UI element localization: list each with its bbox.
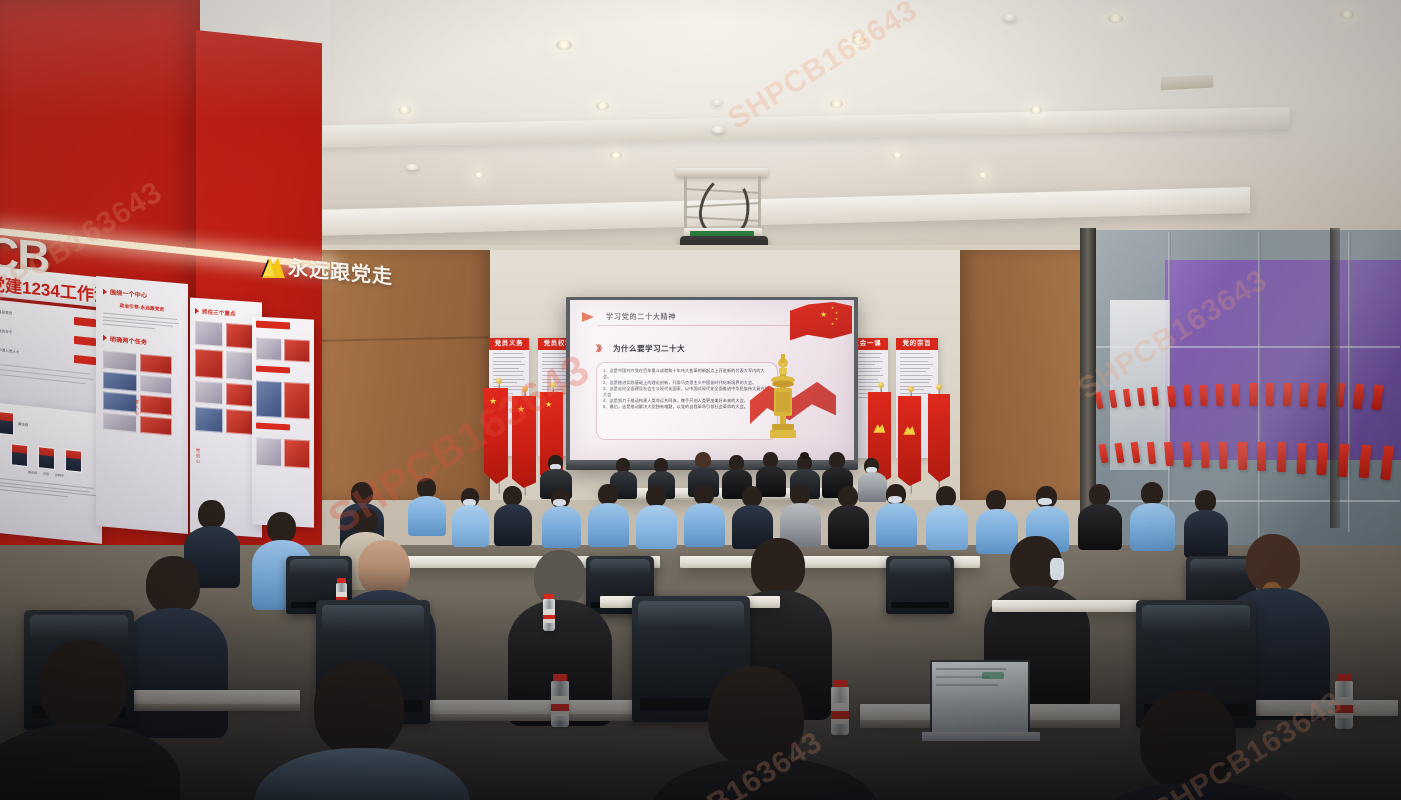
ceiling-downlight — [830, 100, 843, 108]
ceiling-downlight — [474, 172, 484, 178]
structural-column-right — [1330, 228, 1340, 528]
member-portrait — [65, 449, 82, 473]
party-flag — [928, 394, 950, 482]
projector-lift-rail — [684, 176, 687, 232]
wood-wall-panel-right — [960, 250, 1090, 500]
ceiling-downlight — [1108, 14, 1123, 23]
member-name: 黄志强 — [28, 470, 37, 475]
ceiling-downlight — [1340, 10, 1354, 19]
board-photo — [256, 338, 282, 361]
hammer-sickle-icon — [872, 422, 886, 435]
member-name: 黄志强 — [18, 422, 28, 428]
board-photo — [140, 354, 172, 375]
board-photo — [195, 407, 223, 433]
red-wall-highlight — [0, 0, 330, 120]
smoke-detector-icon — [406, 164, 419, 170]
board-photo — [284, 439, 310, 468]
member-portrait — [0, 411, 14, 436]
ceiling-downlight — [892, 152, 903, 159]
screen-glare — [570, 300, 854, 460]
board-photo — [140, 395, 172, 416]
meeting-room-photo: CB 永远跟党走 党建1234工作法 基层党员 党员分子 申请入党人士 — [0, 0, 1401, 800]
flag-star-icon: ★ — [489, 397, 497, 406]
board-photo — [284, 339, 310, 362]
national-flag: ★ — [484, 388, 508, 484]
ceiling-downlight — [978, 172, 988, 178]
board-row-label: 申请入党人士 — [0, 348, 20, 355]
ceiling-downlight — [1030, 106, 1042, 114]
board-vertical-tab: 爱人心 — [134, 399, 140, 416]
hammer-sickle-icon — [902, 424, 916, 437]
board-photo — [256, 438, 282, 467]
board-pill — [74, 317, 96, 327]
wall-panel-title: 党的宗旨 — [896, 341, 938, 347]
board-photo — [195, 349, 223, 379]
smoke-detector-icon — [1003, 14, 1017, 21]
board-row-label: 基层党员 — [0, 310, 12, 317]
ceiling-downlight — [596, 102, 609, 110]
floor-shadow-gradient — [0, 600, 1401, 800]
display-board-member-roster: 黄志强 黄志强 王丽 张晓平 — [0, 402, 102, 544]
board-photo — [226, 323, 254, 349]
board-photo — [226, 409, 254, 435]
member-name: 张晓平 — [55, 473, 64, 478]
wood-wall-panel-left — [320, 250, 490, 500]
board-row-label: 党员分子 — [0, 329, 12, 336]
board-photo — [103, 391, 137, 412]
bullet-triangle-icon — [103, 288, 107, 294]
bullet-triangle-icon — [195, 308, 199, 314]
board-photo — [256, 381, 282, 418]
display-board-one-center: 围绕一个中心 政治引领·永远跟党走 明确两个任务 — [96, 276, 188, 534]
bullet-triangle-icon — [103, 335, 107, 341]
ceiling-downlight — [556, 40, 572, 50]
board-pill — [256, 423, 290, 431]
board-photo — [103, 412, 137, 432]
board-photo — [226, 351, 254, 381]
party-flag — [898, 396, 921, 486]
flag-star-icon: ★ — [517, 405, 525, 414]
ceiling-downlight — [610, 152, 622, 159]
board-photo — [284, 382, 310, 419]
display-board-activities — [252, 316, 314, 527]
board-pill — [256, 366, 290, 374]
member-portrait — [38, 446, 55, 470]
board-photo — [226, 383, 254, 407]
member-name: 王丽 — [43, 472, 49, 477]
wall-panel-title: 党员义务 — [489, 341, 529, 347]
ceiling-air-vent — [1160, 75, 1214, 92]
board-pill — [74, 355, 96, 365]
board-section-title: 围绕一个中心 — [110, 287, 147, 299]
board-photo — [195, 321, 223, 347]
board-section-title: 抓住三个重点 — [202, 307, 236, 317]
smoke-detector-icon — [712, 100, 723, 105]
board-photo — [140, 375, 172, 395]
hammer-sickle-emblem — [258, 255, 284, 279]
board-photo — [103, 371, 137, 391]
ceiling-downlight — [398, 106, 411, 114]
smoke-detector-icon — [712, 126, 725, 133]
board-photo — [195, 381, 223, 405]
ceiling-downlight — [852, 36, 866, 45]
board-pill — [74, 336, 96, 346]
board-section-title: 明确两个任务 — [110, 334, 147, 346]
board-section-sub: 政治引领·永远跟党走 — [103, 302, 181, 315]
board-vertical-tab: 党员心 — [195, 448, 201, 465]
flag-star-icon: ★ — [545, 401, 552, 409]
board-photo — [140, 416, 172, 436]
member-portrait — [11, 443, 28, 467]
national-flag: ★ — [512, 396, 536, 488]
board-photo — [103, 350, 137, 371]
